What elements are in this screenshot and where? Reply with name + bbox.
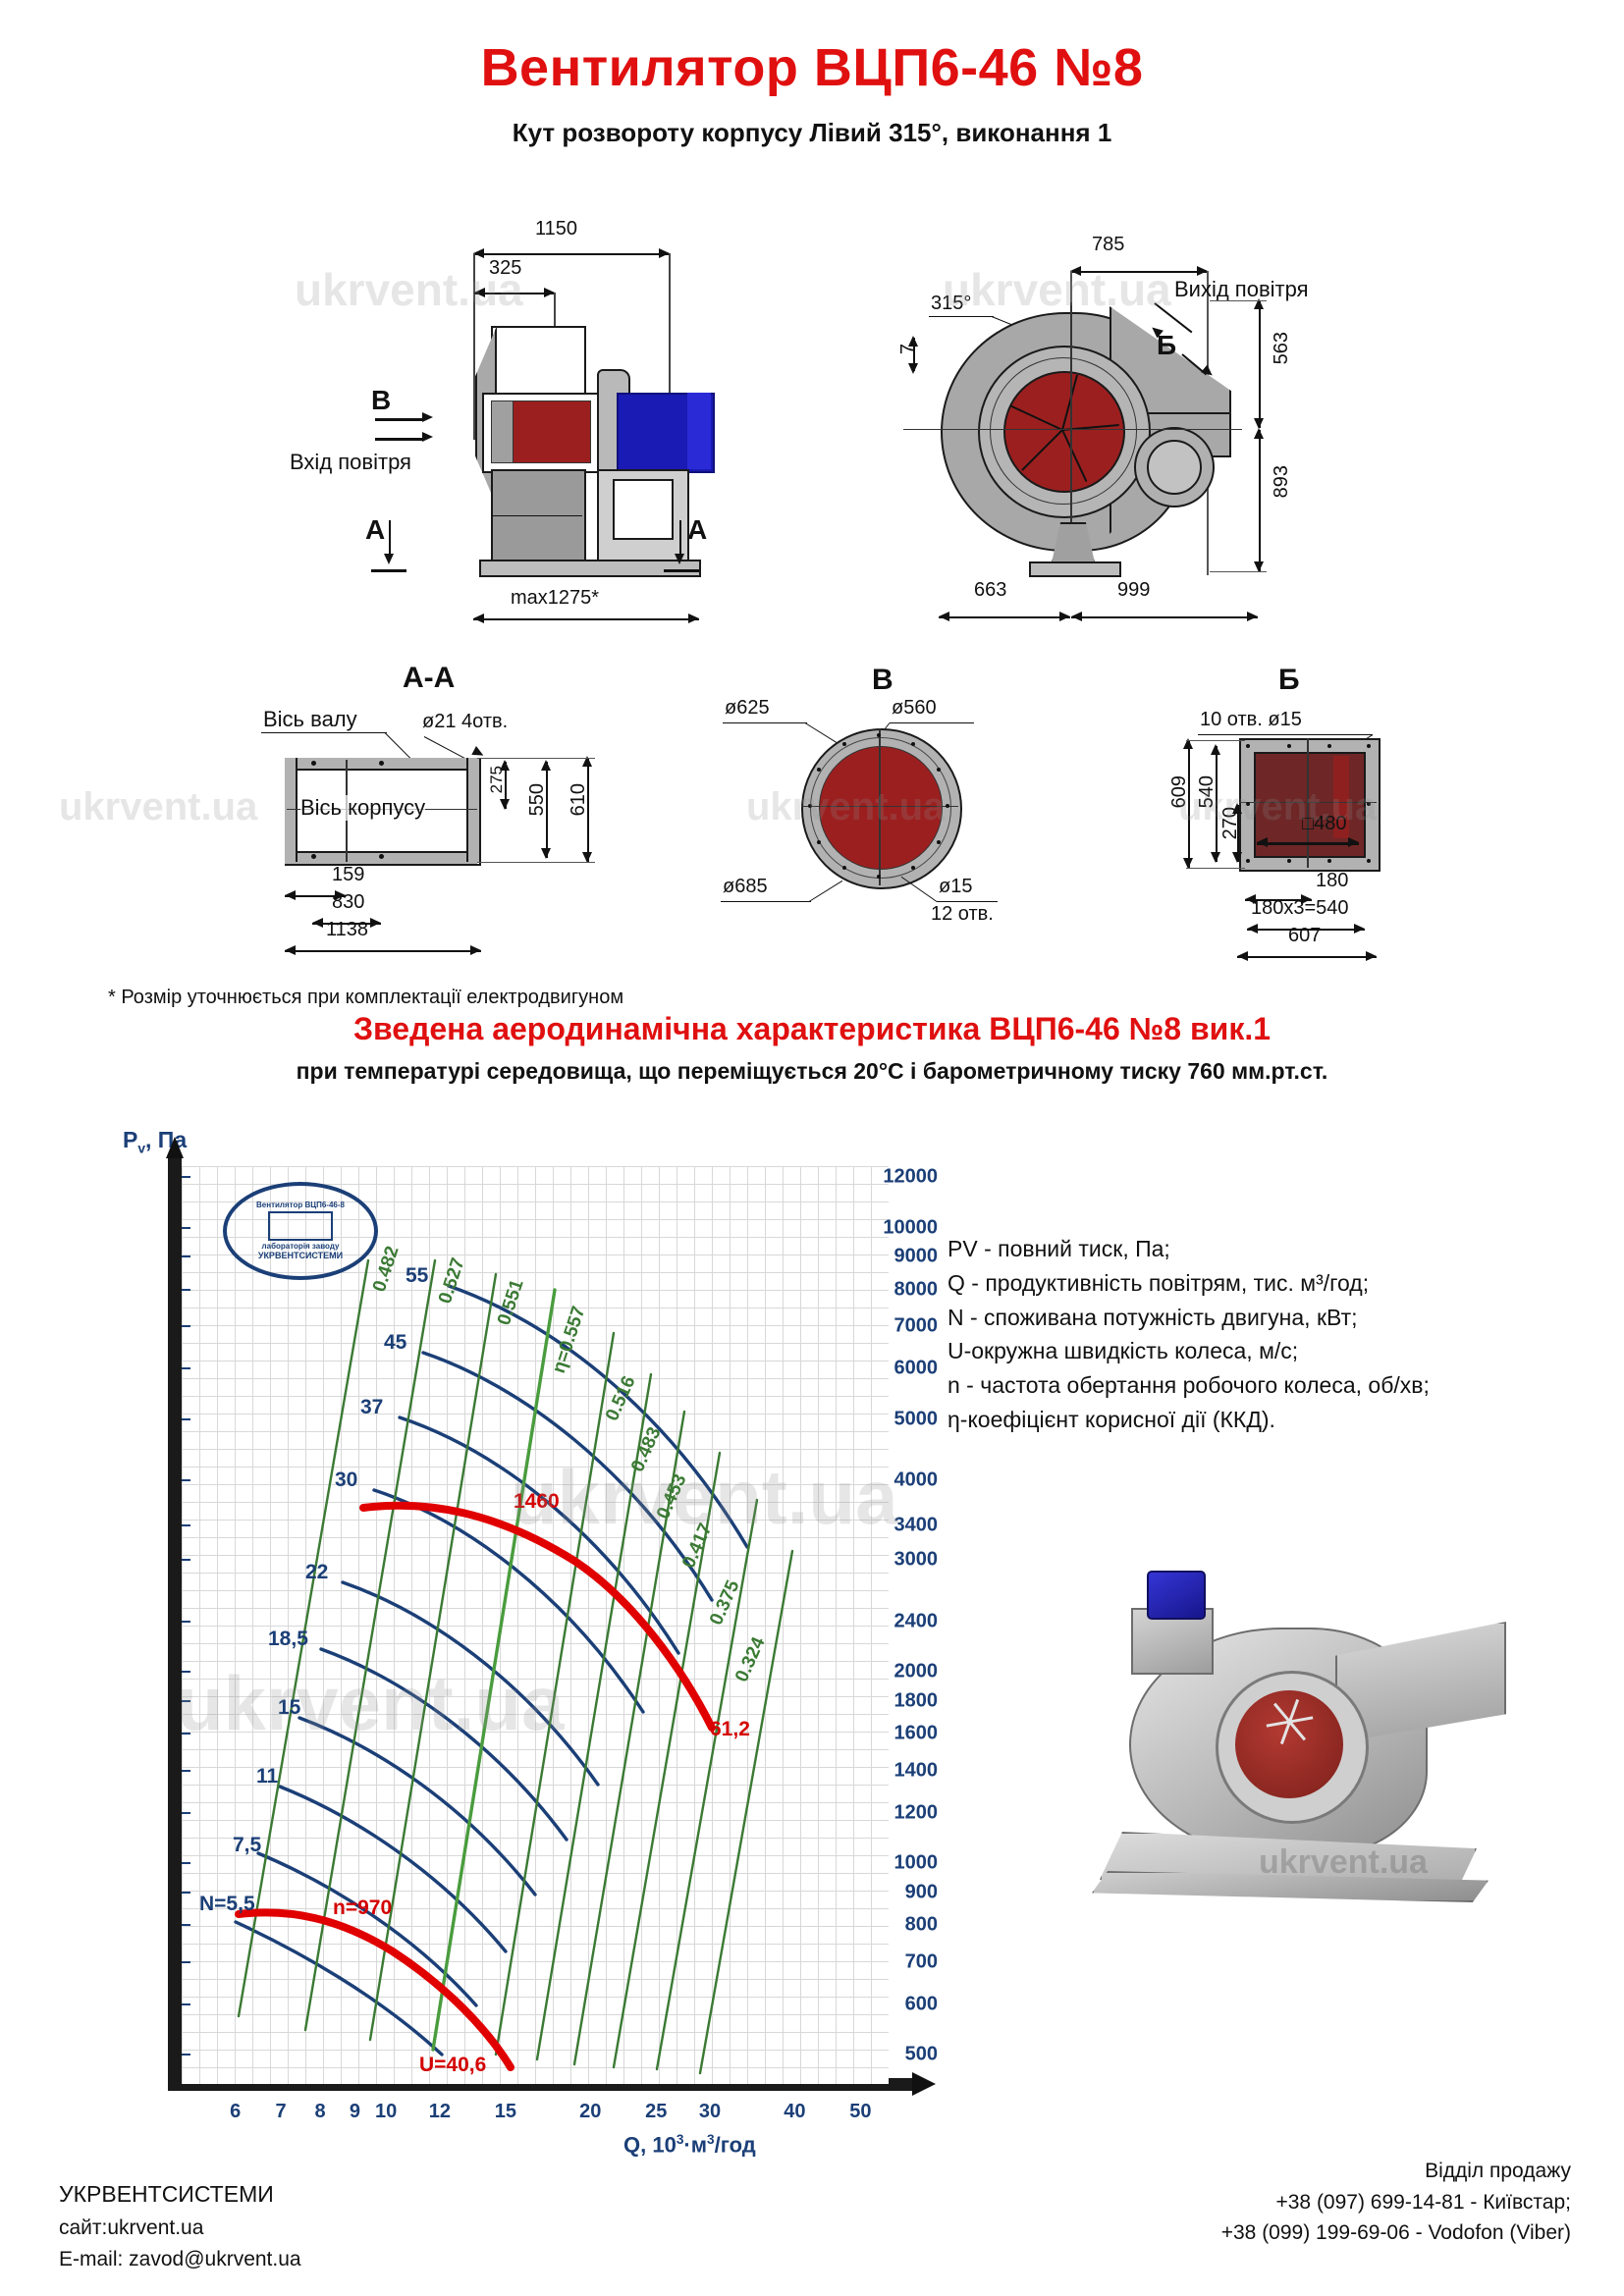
arrow-right xyxy=(1247,612,1258,621)
power-label-30: 30 xyxy=(335,1468,357,1492)
x-tick-label: 20 xyxy=(579,2101,601,2123)
support-opening xyxy=(613,479,674,540)
photo-motor-blue-cap xyxy=(1147,1571,1206,1620)
y-tick-label: 3000 xyxy=(847,1549,938,1572)
x-tick-label: 50 xyxy=(849,2101,871,2123)
dim-1150: 1150 xyxy=(535,218,577,240)
y-tick-mark xyxy=(182,1812,190,1814)
dim-607: 607 xyxy=(1288,925,1321,947)
dim-159: 159 xyxy=(332,864,364,886)
bearing-bore xyxy=(1147,440,1202,495)
dim-893: 893 xyxy=(1271,465,1293,498)
pedestal-base xyxy=(1029,561,1121,577)
arrow-down xyxy=(500,799,510,810)
speed-label-1460: 1460 xyxy=(514,1490,560,1514)
phone-kyivstar[interactable]: +38 (097) 699-14-81 - Київстар; xyxy=(884,2187,1571,2218)
dim-180: 180 xyxy=(1316,870,1348,892)
speed-label-n-970: n=970 xyxy=(333,1896,392,1920)
bolt-hole xyxy=(379,854,384,859)
arrow-up xyxy=(1254,428,1264,439)
dim-line-max1275 xyxy=(473,618,699,620)
section-a-line xyxy=(679,520,681,556)
y-tick-mark xyxy=(182,1524,190,1526)
y-tick-mark xyxy=(182,1479,190,1481)
arrow-right xyxy=(1366,951,1377,961)
y-tick-mark xyxy=(182,1418,190,1420)
bolt-hole xyxy=(808,804,812,808)
y-axis-arrow xyxy=(166,1137,184,1158)
arrow-up xyxy=(541,760,551,771)
bolt-hole xyxy=(1287,744,1291,748)
holes-10-d15: 10 отв. ø15 xyxy=(1200,709,1302,731)
section-right-band xyxy=(466,758,479,862)
x-tick-label: 15 xyxy=(495,2101,516,2123)
dim-315-deg: 315° xyxy=(931,293,971,315)
y-tick-label: 800 xyxy=(847,1914,938,1937)
y-tick-mark xyxy=(182,1924,190,1926)
dim-563: 563 xyxy=(1271,332,1293,364)
arrow-left xyxy=(939,612,949,621)
y-tick-label: 1800 xyxy=(847,1690,938,1713)
power-label-37: 37 xyxy=(360,1396,383,1419)
arrow-right xyxy=(422,432,433,442)
arrow-down xyxy=(1211,852,1220,863)
view-marker-b: Б xyxy=(1157,330,1176,361)
arrow-left xyxy=(473,614,484,623)
bolt-hole xyxy=(1246,859,1250,863)
dim-line-480 xyxy=(1257,842,1359,845)
y-tick-label: 1400 xyxy=(847,1759,938,1782)
website[interactable]: сайт:ukrvent.ua xyxy=(59,2213,301,2245)
motor-highlight xyxy=(687,393,711,469)
bolt-hole xyxy=(1287,859,1291,863)
x-tick-label: 8 xyxy=(315,2101,326,2123)
ext-line xyxy=(1210,571,1267,572)
aerodynamic-chart[interactable]: Pv, Па Вентилятор ВЦП6-46-8 лабораторія … xyxy=(74,1148,938,2130)
front-view-drawing: 785 315° 7 Вихід повітря Б 563 893 xyxy=(943,255,1335,628)
bolt-hole xyxy=(1246,802,1250,806)
bolt-hole xyxy=(911,866,915,870)
section-a-base xyxy=(371,569,406,572)
dim-square-480: □480 xyxy=(1302,813,1346,835)
y-tick-mark xyxy=(182,2003,190,2005)
arrow-left xyxy=(1257,837,1268,847)
chart-subtitle: при температурі середовища, що переміщує… xyxy=(0,1058,1624,1085)
y-tick-label: 600 xyxy=(847,1994,938,2016)
arrow-up xyxy=(1232,803,1242,814)
legend-item-u: U-окружна швидкість колеса, м/с; xyxy=(947,1337,1556,1365)
y-axis xyxy=(168,1158,182,2091)
y-tick-mark xyxy=(182,1862,190,1864)
inlet-arrow-line xyxy=(375,418,424,421)
y-tick-label: 900 xyxy=(847,1882,938,1904)
fan-housing-upper xyxy=(491,326,586,397)
y-tick-mark xyxy=(182,2054,190,2056)
x-tick-label: 10 xyxy=(375,2101,397,2123)
bolt-hole xyxy=(937,840,941,844)
power-label-n-5-5: N=5,5 xyxy=(199,1893,255,1916)
power-label-7-5: 7,5 xyxy=(233,1834,261,1857)
bolt-hole xyxy=(877,875,881,879)
arrow-left xyxy=(1237,951,1248,961)
view-marker-v: В xyxy=(371,385,391,416)
y-tick-mark xyxy=(182,1176,190,1178)
ext-line xyxy=(1186,740,1245,741)
center-axis-h xyxy=(903,429,1242,430)
section-aa-title: A-A xyxy=(403,662,455,695)
dim-line-893 xyxy=(1259,430,1261,571)
label-body-axis: Вісь корпусу xyxy=(300,795,425,821)
leader-underline xyxy=(937,901,998,902)
dim-line-563 xyxy=(1259,300,1261,428)
arrow-left xyxy=(474,288,485,297)
x-tick-label: 25 xyxy=(645,2101,667,2123)
view-b-title: Б xyxy=(1278,664,1300,697)
dim-180x3: 180х3=540 xyxy=(1251,897,1349,920)
dim-line-1138 xyxy=(285,950,481,952)
arrow-left xyxy=(1247,924,1258,934)
y-tick-mark xyxy=(182,1289,190,1291)
y-tick-label: 8000 xyxy=(847,1278,938,1301)
power-label-11: 11 xyxy=(256,1765,278,1789)
dim-999: 999 xyxy=(1117,579,1150,602)
leader-underline xyxy=(890,722,974,723)
section-left-band xyxy=(285,758,298,862)
y-tick-mark xyxy=(182,1892,190,1894)
y-tick-label: 3400 xyxy=(847,1515,938,1537)
y-tick-label: 6000 xyxy=(847,1358,938,1380)
y-tick-label: 5000 xyxy=(847,1408,938,1430)
dim-line-785 xyxy=(1070,271,1208,273)
y-tick-mark xyxy=(182,1367,190,1369)
bolt-hole xyxy=(379,761,384,766)
bolt-hole xyxy=(817,840,821,844)
section-a-line xyxy=(389,520,391,556)
x-tick-label: 40 xyxy=(784,2101,805,2123)
power-label-55: 55 xyxy=(406,1264,428,1288)
u-label-40-6: U=40,6 xyxy=(419,2054,486,2077)
base-plate xyxy=(479,560,701,577)
ext-line xyxy=(477,758,595,759)
center-axis-v xyxy=(1307,738,1309,868)
legend-item-eta: η-коефіцієнт корисної дії (ККД). xyxy=(947,1406,1556,1434)
arrow-down xyxy=(541,848,551,859)
x-tick-label: 12 xyxy=(429,2101,451,2123)
dim-line-325 xyxy=(474,293,555,294)
view-v-drawing: В ø625 ø560 ø685 ø15 12 отв. xyxy=(746,667,1041,942)
bolt-hole xyxy=(1367,744,1371,748)
rotor-gray-left xyxy=(491,400,514,463)
chart-title: Зведена аеродинамічна характеристика ВЦП… xyxy=(0,1011,1624,1047)
company-name: УКРВЕНТСИСТЕМИ xyxy=(59,2177,301,2213)
arrow-up xyxy=(908,336,918,347)
ext-line xyxy=(477,862,595,863)
y-tick-label: 1600 xyxy=(847,1723,938,1745)
section-marker-a-left: A xyxy=(365,514,385,546)
y-tick-label: 500 xyxy=(847,2044,938,2066)
power-label-45: 45 xyxy=(384,1331,406,1355)
page-subtitle: Кут розвороту корпусу Лівий 315°, викона… xyxy=(0,118,1624,148)
y-tick-label: 2000 xyxy=(847,1661,938,1683)
label-shaft-axis: Вісь валу xyxy=(263,707,357,732)
ext-line xyxy=(554,293,556,327)
y-tick-mark xyxy=(182,1671,190,1673)
leader-line xyxy=(929,316,994,317)
arrow-right xyxy=(370,918,381,928)
chart-legend: PV - повний тиск, Па; Q - продуктивність… xyxy=(947,1235,1556,1440)
x-tick-label: 6 xyxy=(230,2101,241,2123)
dim-line-610 xyxy=(587,758,589,862)
leader-underline xyxy=(721,901,811,902)
arrow-left xyxy=(1071,612,1082,621)
side-view-drawing: 1150 325 В Вхід повітря A A max1275* xyxy=(393,236,805,628)
u-label-61-2: 61,2 xyxy=(710,1718,750,1741)
label-air-outlet: Вихід повітря xyxy=(1174,277,1309,302)
phone-vodafone[interactable]: +38 (099) 199-69-06 - Vodofon (Viber) xyxy=(884,2217,1571,2249)
legend-item-rpm: n - частота обертання робочого колеса, о… xyxy=(947,1371,1556,1400)
footer-left: УКРВЕНТСИСТЕМИ сайт:ukrvent.ua E-mail: z… xyxy=(59,2177,301,2276)
leader-underline xyxy=(723,722,807,723)
leader-underline xyxy=(1198,734,1373,735)
bolt-hole xyxy=(877,733,881,737)
dim-line-999 xyxy=(1071,616,1258,618)
power-label-18-5: 18,5 xyxy=(268,1628,308,1651)
ext-line xyxy=(1186,868,1245,869)
impeller-red xyxy=(513,400,591,463)
bolt-hole xyxy=(311,854,316,859)
arrow-down xyxy=(384,554,394,564)
arrow-right xyxy=(470,945,481,955)
chart-curves xyxy=(182,1166,889,2084)
y-tick-mark xyxy=(182,1559,190,1561)
watermark: ukrvent.ua xyxy=(59,785,257,829)
y-tick-mark xyxy=(182,1227,190,1229)
dim-line-609 xyxy=(1188,740,1190,868)
view-v-title: В xyxy=(872,664,893,697)
x-axis-arrow xyxy=(912,2072,936,2096)
dim-785: 785 xyxy=(1092,234,1124,256)
x-axis-title: Q, 103·м3/год xyxy=(623,2132,756,2158)
dim-1138: 1138 xyxy=(326,919,368,941)
footer-right: Відділ продажу +38 (097) 699-14-81 - Киї… xyxy=(884,2156,1571,2249)
legend-item-q: Q - продуктивність повітрям, тис. м³/год… xyxy=(947,1269,1556,1298)
bolt-hole xyxy=(1327,744,1331,748)
dim-hole-d15: ø15 xyxy=(939,876,972,898)
y-tick-mark xyxy=(182,1621,190,1623)
section-aa-drawing: A-A Вісь валу ø21 4отв. Вісь корпусу 275… xyxy=(285,667,677,942)
center-axis-v xyxy=(1070,302,1072,560)
arrow-right xyxy=(422,412,433,422)
arrow-down xyxy=(675,554,684,564)
y-tick-mark xyxy=(182,1733,190,1735)
legend-item-pv: PV - повний тиск, Па; xyxy=(947,1235,1556,1263)
bolt-hole xyxy=(1327,859,1331,863)
arrow-left xyxy=(285,945,296,955)
power-label-15: 15 xyxy=(278,1696,300,1720)
product-photo: ukrvent.ua xyxy=(982,1561,1532,1973)
y-tick-label: 700 xyxy=(847,1950,938,1973)
leader-underline xyxy=(261,732,387,733)
dim-line-607 xyxy=(1237,956,1377,958)
dim-830: 830 xyxy=(332,891,364,914)
y-tick-label: 1200 xyxy=(847,1802,938,1825)
y-tick-label: 4000 xyxy=(847,1469,938,1492)
ext-line xyxy=(1210,300,1267,301)
y-tick-label: 2400 xyxy=(847,1611,938,1633)
y-tick-label: 12000 xyxy=(847,1166,938,1189)
y-tick-label: 7000 xyxy=(847,1315,938,1338)
bolt-hole xyxy=(311,761,316,766)
bolt-hole xyxy=(842,866,846,870)
bolt-hole xyxy=(1367,859,1371,863)
arrow-left xyxy=(312,918,323,928)
section-a-base xyxy=(664,569,699,572)
dim-d560: ø560 xyxy=(892,697,937,720)
dim-d625: ø625 xyxy=(725,697,770,720)
arrow-up xyxy=(500,760,510,771)
bolt-hole xyxy=(911,742,915,746)
arrow-right xyxy=(1059,612,1070,621)
y-tick-mark xyxy=(182,1700,190,1702)
power-label-22: 22 xyxy=(305,1561,328,1584)
center-axis-v xyxy=(879,728,881,885)
ext-line xyxy=(473,253,475,440)
center-axis-h xyxy=(801,806,958,807)
bolt-hole xyxy=(946,804,949,808)
footnote: * Розмір уточнюється при комплектації ел… xyxy=(108,987,623,1009)
arrow-up xyxy=(1211,744,1220,755)
sales-department-title: Відділ продажу xyxy=(884,2156,1571,2187)
dim-663: 663 xyxy=(974,579,1006,602)
bolt-hole xyxy=(937,768,941,772)
y-tick-mark xyxy=(182,1770,190,1772)
divider xyxy=(491,515,582,516)
arrow-right xyxy=(688,614,699,623)
inlet-arrow-line xyxy=(375,438,424,441)
view-b-drawing: Б 10 отв. ø15 □480 609 540 270 180 180х3… xyxy=(1159,667,1453,952)
arrow-down xyxy=(1232,852,1242,863)
y-tick-mark xyxy=(182,1961,190,1963)
arrow-left xyxy=(285,890,296,900)
dim-max1275: max1275* xyxy=(511,587,599,610)
y-tick-mark xyxy=(182,1255,190,1257)
dim-line-550 xyxy=(546,762,548,858)
arrow-right xyxy=(1348,837,1359,847)
dim-line-540 xyxy=(1216,746,1218,862)
leader-diagonal xyxy=(809,881,842,902)
y-tick-label: 10000 xyxy=(847,1216,938,1239)
dim-line-663 xyxy=(939,616,1070,618)
fan-housing-lower xyxy=(491,469,586,563)
x-tick-label: 9 xyxy=(350,2101,360,2123)
leader-diagonal xyxy=(901,877,938,902)
bolt-hole xyxy=(842,742,846,746)
photo-impeller xyxy=(1235,1690,1343,1798)
legend-item-n: N - споживана потужність двигуна, кВт; xyxy=(947,1304,1556,1332)
y-tick-label: 1000 xyxy=(847,1852,938,1875)
center-axis-h xyxy=(1239,802,1377,803)
x-tick-label: 7 xyxy=(275,2101,286,2123)
bolt-hole xyxy=(1246,744,1250,748)
label-air-inlet: Вхід повітря xyxy=(290,450,411,475)
inlet-disc xyxy=(819,746,943,870)
dim-325: 325 xyxy=(489,257,521,280)
arrow-right xyxy=(1354,924,1365,934)
arrow-down xyxy=(908,363,918,374)
dim-line-1150 xyxy=(473,253,670,255)
dim-d685: ø685 xyxy=(723,876,768,898)
holes-dia-21: ø21 4отв. xyxy=(422,711,508,733)
section-marker-a-right: A xyxy=(687,514,707,546)
bolt-hole xyxy=(1367,802,1371,806)
y-tick-mark xyxy=(182,1325,190,1327)
page-title: Вентилятор ВЦП6-46 №8 xyxy=(0,37,1624,98)
email[interactable]: E-mail: zavod@ukrvent.ua xyxy=(59,2244,301,2276)
hole-count-12: 12 отв. xyxy=(931,903,994,926)
bolt-hole xyxy=(817,768,821,772)
y-tick-label: 9000 xyxy=(847,1246,938,1268)
x-tick-label: 30 xyxy=(699,2101,721,2123)
